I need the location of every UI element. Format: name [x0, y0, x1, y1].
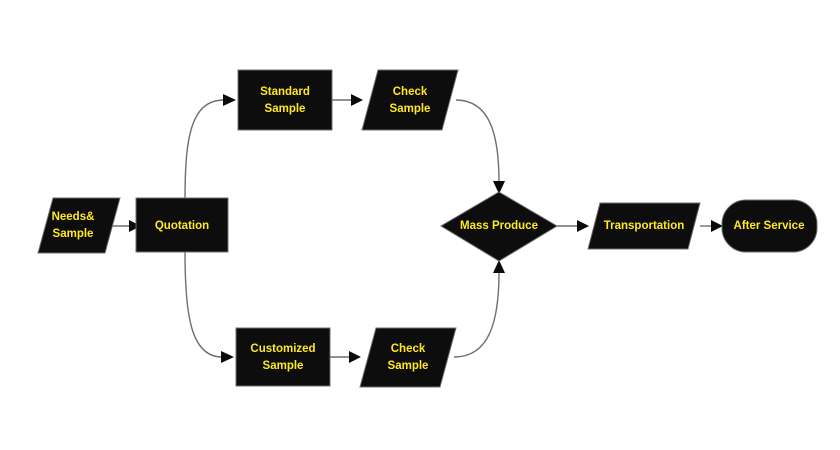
arrow-head: [577, 220, 589, 232]
node-check-sample-bottom[interactable]: Check Sample: [360, 328, 456, 387]
edge-check-sample-bottom-to-mass-produce: [454, 260, 505, 357]
customized-sample-shape[interactable]: [236, 328, 330, 386]
quotation-shape[interactable]: [136, 198, 228, 252]
arrow-head: [493, 260, 505, 273]
mass-produce-shape[interactable]: [441, 192, 557, 261]
standard-sample-shape[interactable]: [238, 70, 332, 130]
edge-check-sample-top-to-mass-produce: [456, 100, 505, 194]
transportation-shape[interactable]: [588, 203, 700, 249]
edge-transportation-to-after-service: [700, 220, 723, 232]
check-sample-top-shape[interactable]: [362, 70, 458, 130]
arrow-head: [349, 351, 361, 363]
edge-quotation-to-customized-sample: [185, 252, 234, 363]
needs-sample-shape[interactable]: [38, 198, 120, 253]
after-service-shape[interactable]: [722, 200, 817, 252]
node-quotation[interactable]: Quotation: [136, 198, 228, 252]
edge-customized-sample-to-check-sample-bottom: [330, 351, 361, 363]
node-transportation[interactable]: Transportation: [588, 203, 700, 249]
connector-line: [185, 252, 222, 357]
arrow-head: [223, 94, 236, 106]
node-needs-sample[interactable]: Needs& Sample: [38, 198, 120, 253]
node-check-sample-top[interactable]: Check Sample: [362, 70, 458, 130]
edge-quotation-to-standard-sample: [185, 94, 236, 200]
edge-mass-produce-to-transportation: [557, 220, 589, 232]
node-standard-sample[interactable]: Standard Sample: [238, 70, 332, 130]
flowchart-svg: Needs& Sample Quotation Standard Sample …: [0, 0, 840, 450]
check-sample-bottom-shape[interactable]: [360, 328, 456, 387]
node-after-service[interactable]: After Service: [722, 200, 817, 252]
connector-line: [185, 100, 224, 200]
flowchart-canvas: Needs& Sample Quotation Standard Sample …: [0, 0, 840, 450]
edge-standard-sample-to-check-sample-top: [332, 94, 363, 106]
arrow-head: [711, 220, 723, 232]
node-mass-produce[interactable]: Mass Produce: [441, 192, 557, 261]
arrow-head: [221, 351, 234, 363]
connector-line: [454, 272, 499, 357]
arrow-head: [351, 94, 363, 106]
node-customized-sample[interactable]: Customized Sample: [236, 328, 330, 386]
connector-line: [456, 100, 499, 182]
